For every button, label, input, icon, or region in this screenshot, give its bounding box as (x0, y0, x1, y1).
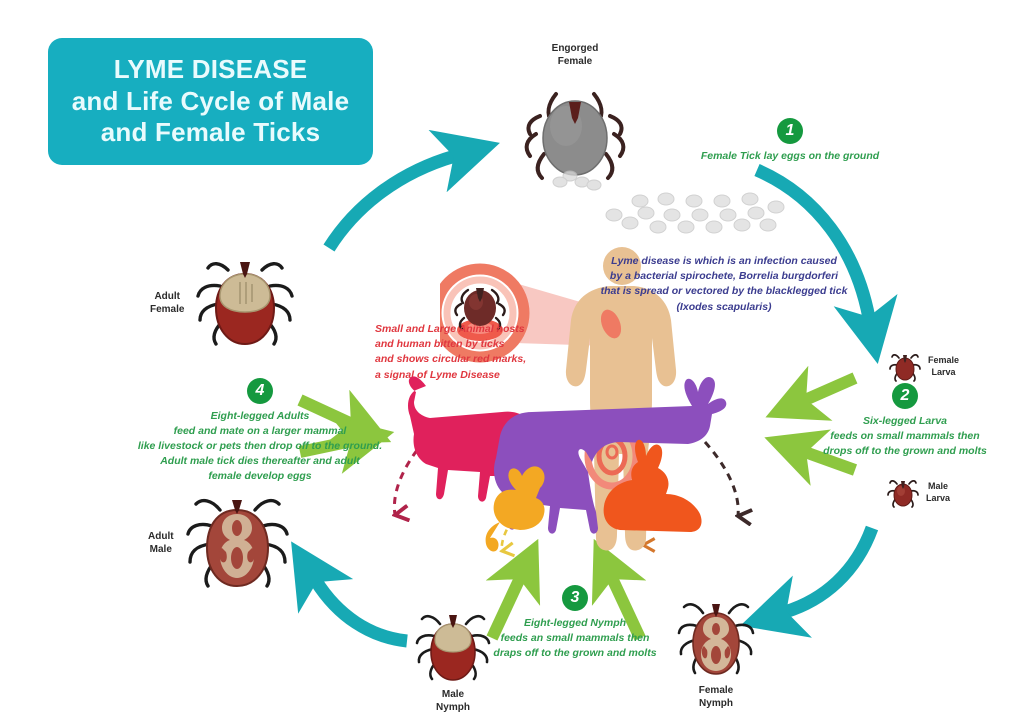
male-larva-tick-icon (886, 476, 920, 510)
step-3-badge: 3 (562, 585, 588, 611)
specimen-adult-female: Adult Female (150, 250, 300, 355)
animal-hosts-group (370, 372, 770, 557)
adult-female-tick-icon (190, 250, 300, 355)
specimen-engorged-female: Engorged Female (500, 42, 650, 192)
step-3-text: Eight-legged Nymph feeds an small mammal… (493, 616, 656, 661)
step-1-badge: 1 (777, 118, 803, 144)
infographic-canvas: LYME DISEASE and Life Cycle of Male and … (0, 0, 1024, 721)
specimen-male-larva: Male Larva (886, 476, 950, 510)
specimen-male-nymph: Male Nymph (398, 608, 508, 714)
step-4-badge: 4 (247, 378, 273, 404)
specimen-label-female-larva: Female Larva (928, 355, 959, 378)
rabbit-silhouette-icon (604, 440, 702, 532)
female-nymph-tick-icon (671, 596, 761, 680)
step-1-text: Female Tick lay eggs on the ground (701, 149, 879, 164)
step-2: 2 Six-legged Larva feeds on small mammal… (805, 383, 1005, 459)
specimen-label-male-nymph: Male Nymph (436, 688, 470, 714)
step-3: 3 Eight-legged Nymph feeds an small mamm… (480, 585, 670, 661)
title-card: LYME DISEASE and Life Cycle of Male and … (48, 38, 373, 165)
step-1: 1 Female Tick lay eggs on the ground (665, 118, 915, 164)
teal-arrow-to-adult (316, 581, 407, 641)
step-4: 4 Eight-legged Adults feed and mate on a… (130, 378, 390, 484)
female-larva-tick-icon (888, 350, 922, 384)
step-2-badge: 2 (892, 383, 918, 409)
male-nymph-tick-icon (410, 608, 496, 684)
adult-male-tick-icon (180, 488, 295, 598)
squirrel-silhouette-icon (486, 466, 545, 551)
teal-arrow-to-engorged-female (329, 156, 455, 248)
specimen-label-adult-male: Adult Male (148, 530, 174, 556)
specimen-label-engorged-female: Engorged Female (552, 42, 599, 68)
specimen-female-larva: Female Larva (888, 350, 959, 384)
page-title: LYME DISEASE and Life Cycle of Male and … (72, 54, 349, 149)
specimen-label-male-larva: Male Larva (926, 481, 950, 504)
step-2-text: Six-legged Larva feeds on small mammals … (823, 414, 987, 459)
step-4-text: Eight-legged Adults feed and mate on a l… (138, 409, 382, 484)
specimen-female-nymph: Female Nymph (658, 596, 774, 710)
teal-arrow-to-nymph (785, 528, 872, 612)
lyme-description-text: Lyme disease is which is an infection ca… (598, 254, 850, 315)
engorged-female-tick-icon (500, 72, 650, 192)
specimen-label-adult-female: Adult Female (150, 290, 184, 316)
specimen-adult-male: Adult Male (148, 488, 295, 598)
specimen-label-female-nymph: Female Nymph (699, 684, 733, 710)
tick-egg-cluster-icon (600, 175, 800, 245)
